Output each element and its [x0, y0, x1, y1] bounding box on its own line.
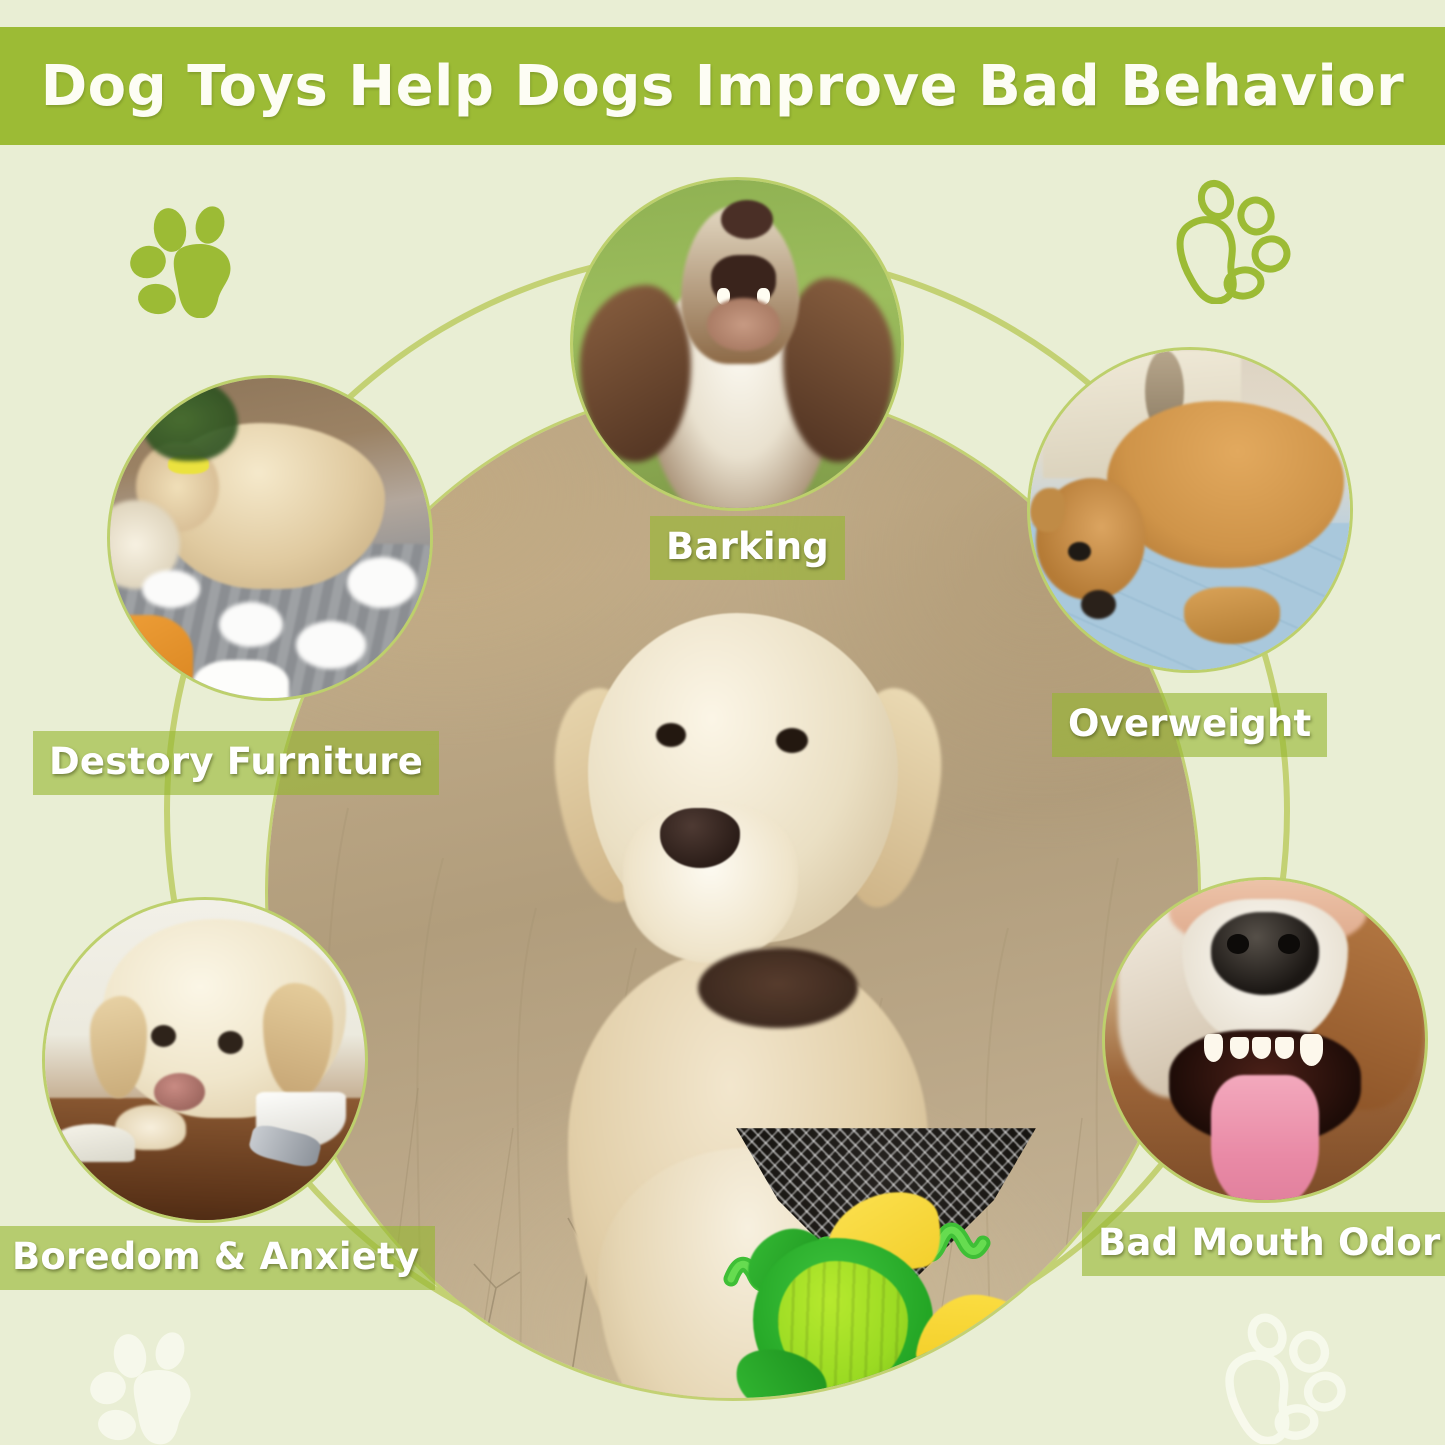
- odor-tooth-1: [1230, 1037, 1249, 1059]
- boredom-dog-eye-right: [218, 1031, 244, 1053]
- destroy-white-fabric: [193, 660, 289, 698]
- problem-photo-destroy-furniture: [110, 378, 430, 698]
- barking-dog-lower-jaw: [707, 298, 779, 350]
- label-destroy-furniture: Destory Furniture: [33, 731, 439, 795]
- destroy-stuffing-2: [219, 602, 283, 647]
- paw-print-icon-top-left: [128, 200, 248, 318]
- page-title: Dog Toys Help Dogs Improve Bad Behavior: [41, 54, 1405, 119]
- label-barking: Barking: [650, 516, 845, 580]
- toy-stitch-mark-1: [1071, 1343, 1091, 1360]
- odor-nostril-left: [1227, 934, 1249, 953]
- barking-dog-nose: [721, 200, 773, 239]
- dog-eye-right: [776, 728, 808, 753]
- problem-photo-boredom-anxiety: [45, 900, 365, 1220]
- label-bad-mouth-odor: Bad Mouth Odor: [1082, 1212, 1445, 1276]
- paw-print-icon-bottom-left: [88, 1325, 208, 1445]
- paw-print-icon-bottom-right: [1215, 1312, 1355, 1444]
- dog-eye-left: [656, 723, 686, 747]
- overweight-dog-nose: [1081, 590, 1116, 619]
- odor-tooth-canine-right: [1300, 1034, 1322, 1066]
- overweight-dog-ear: [1030, 488, 1065, 533]
- overweight-dog-eye: [1068, 542, 1090, 561]
- problem-photo-barking: [573, 180, 901, 508]
- problem-photo-overweight: [1030, 350, 1350, 670]
- boredom-plate: [51, 1124, 134, 1162]
- paw-print-icon-top-right: [1168, 178, 1298, 304]
- destroy-orange-mat: [110, 615, 193, 698]
- overweight-dog-leg: [1184, 587, 1280, 645]
- odor-tooth-3: [1275, 1037, 1294, 1059]
- toy-stitch-mark-2: [1115, 1331, 1135, 1348]
- dog-mouth: [698, 948, 858, 1028]
- problem-photo-bad-mouth-odor: [1105, 880, 1425, 1200]
- destroy-stuffing-3: [296, 621, 366, 669]
- odor-nostril-right: [1278, 934, 1300, 953]
- header-banner: Dog Toys Help Dogs Improve Bad Behavior: [0, 27, 1445, 145]
- destroy-stuffing-4: [142, 570, 200, 608]
- label-boredom-anxiety: Boredom & Anxiety: [0, 1226, 435, 1290]
- odor-dog-nose: [1211, 912, 1320, 995]
- odor-dog-tongue: [1211, 1075, 1320, 1200]
- infographic-canvas: Dog Toys Help Dogs Improve Bad Behavior: [0, 0, 1445, 1445]
- label-overweight: Overweight: [1052, 693, 1327, 757]
